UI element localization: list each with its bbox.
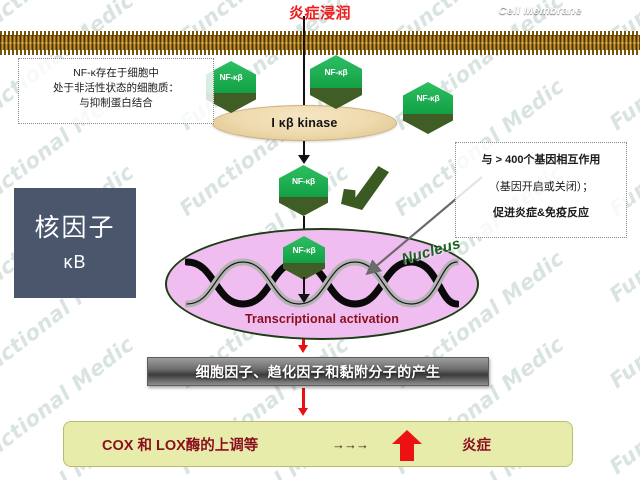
- nuclear-factor-kb-box: 核因子 κB: [14, 188, 136, 298]
- gene-note-line-3: 促进炎症&免疫反应: [462, 206, 620, 222]
- watermark-text: Functional Medic: [605, 332, 640, 479]
- cytoplasm-note-line-1: NF-κ存在于细胞中: [25, 66, 207, 81]
- nfkb-molecule-nucleus: NF-κβ: [283, 236, 325, 280]
- nuclear-factor-label: 核因子: [34, 216, 115, 241]
- gene-interaction-note-box: 与 > 400个基因相互作用 （基因开启或关闭）； 促进炎症&免疫反应: [455, 142, 627, 238]
- signal-arrow-top-line: [303, 16, 305, 106]
- nfkb-label: NF-κβ: [279, 165, 328, 197]
- membrane-lipid-core: [0, 35, 640, 51]
- nfkb-label: NF-κβ: [310, 55, 362, 88]
- transcriptional-activation-label: Transcriptional activation: [167, 312, 477, 326]
- nfkb-molecule-membrane-right: NF-κβ: [403, 82, 453, 134]
- nucleus-binding-arrowhead: [298, 294, 310, 303]
- output-arrow-1-head: [298, 345, 308, 353]
- gene-note-line-1: 与 > 400个基因相互作用: [462, 153, 620, 169]
- nfkb-molecule-membrane-center: NF-κβ: [310, 55, 362, 109]
- nfkb-label: NF-κβ: [283, 236, 325, 263]
- inflammation-up-arrow-icon: [391, 429, 423, 462]
- progression-arrows-label: →→→: [332, 437, 368, 452]
- nfkb-label: NF-κβ: [403, 82, 453, 114]
- kappa-b-label: κB: [63, 253, 86, 271]
- inflammation-outcome-label: 炎症: [462, 434, 491, 455]
- diagram-canvas: Functional MedicFunctional MedicFunction…: [0, 0, 640, 480]
- cytokine-production-bar: 细胞因子、趋化因子和黏附分子的产生: [147, 357, 489, 386]
- cytokine-production-label: 细胞因子、趋化因子和黏附分子的产生: [196, 362, 441, 382]
- cytoplasm-note-line-3: 与抑制蛋白结合: [25, 96, 207, 111]
- cell-membrane-label: Cell Membrane: [499, 5, 582, 17]
- inflammation-outcome-box: COX 和 LOX酶的上调等 →→→ 炎症: [63, 421, 573, 467]
- signal-arrowhead-mid: [298, 155, 310, 164]
- cytoplasm-note-line-2: 处于非活性状态的细胞质：: [25, 81, 207, 96]
- cytoplasm-note-box: NF-κ存在于细胞中 处于非活性状态的细胞质： 与抑制蛋白结合: [18, 58, 214, 124]
- gene-note-line-2: （基因开启或关闭）；: [462, 180, 620, 196]
- cell-membrane: [0, 31, 640, 55]
- watermark-text: Functional Medic: [605, 246, 640, 393]
- watermark-text: Functional Medic: [605, 418, 640, 480]
- output-arrow-2-head: [298, 408, 308, 416]
- nfkb-molecule-cytoplasm: NF-κβ: [279, 165, 328, 216]
- ikb-kinase-label: I κβ kinase: [271, 116, 337, 130]
- cox-lox-upregulation-label: COX 和 LOX酶的上调等: [102, 434, 258, 455]
